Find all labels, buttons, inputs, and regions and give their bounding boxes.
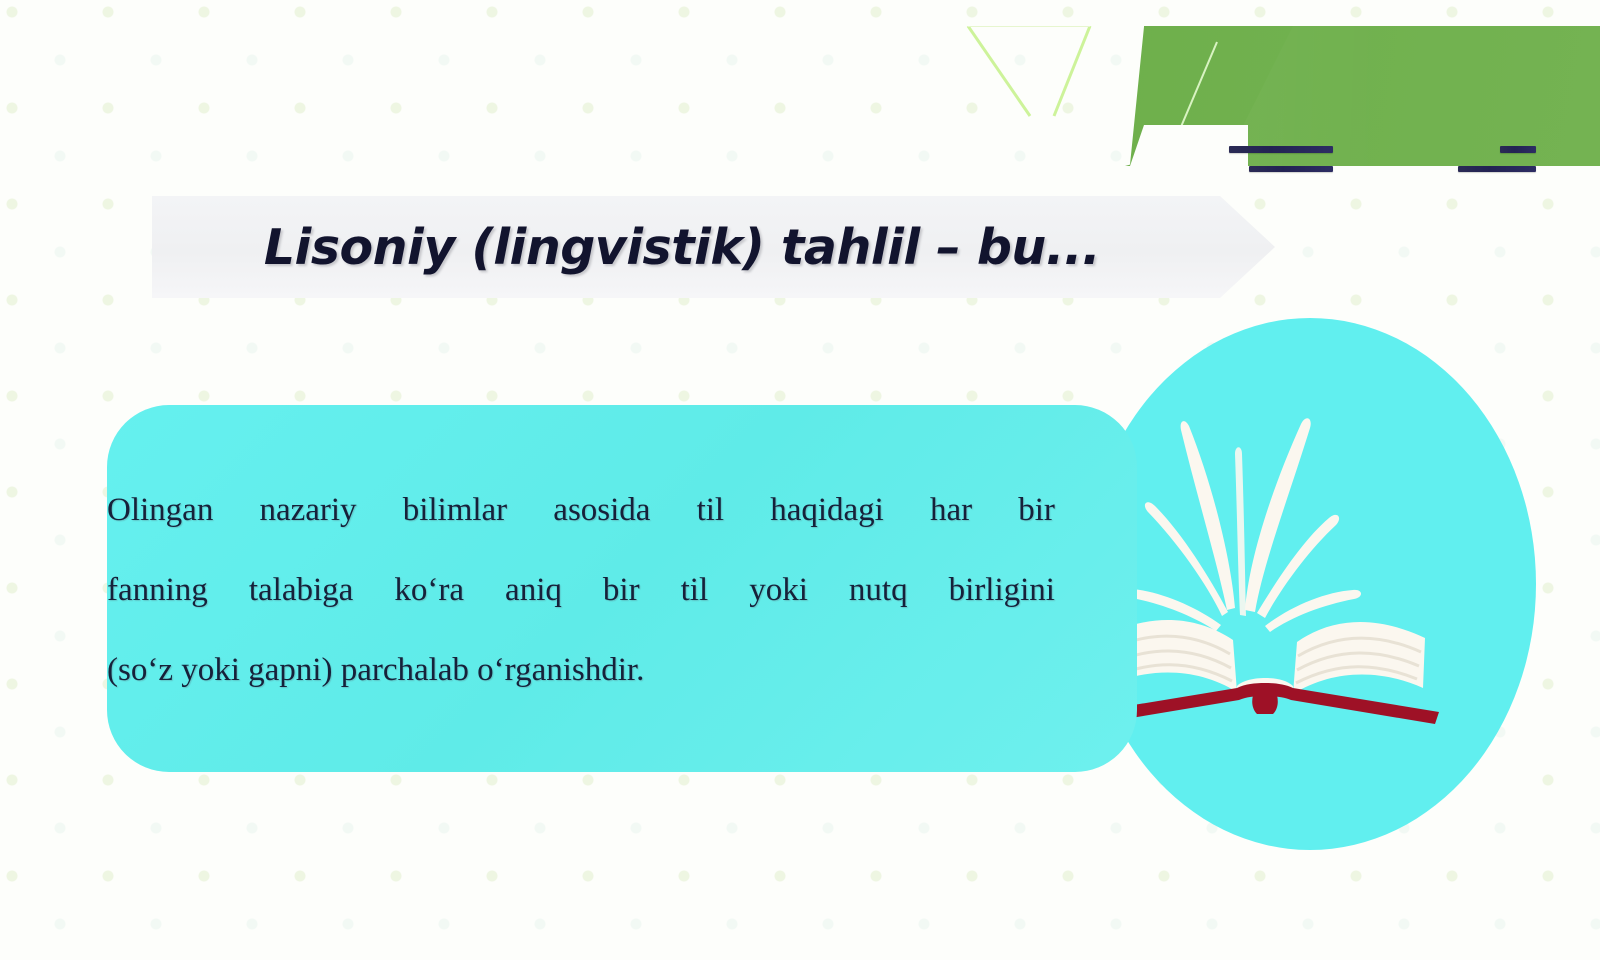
- slide-canvas: Lisoniy (lingvistik) tahlil – bu...: [0, 0, 1600, 960]
- navy-bar-2: [1249, 166, 1333, 172]
- word: bir: [1018, 470, 1055, 550]
- word: haqidagi: [770, 470, 884, 550]
- word: til: [681, 550, 709, 630]
- word: ko‘ra: [394, 550, 464, 630]
- word: Olingan: [107, 470, 213, 550]
- body-paragraph: Olingan nazariy bilimlar asosida til haq…: [107, 470, 1055, 710]
- word: birligini: [949, 550, 1055, 630]
- word: bilimlar: [403, 470, 507, 550]
- word: aniq: [505, 550, 562, 630]
- body-line-2: fanning talabiga ko‘ra aniq bir til yoki…: [107, 550, 1055, 630]
- navy-bar-1: [1229, 146, 1333, 153]
- word: nutq: [849, 550, 908, 630]
- body-line-3: (so‘z yoki gapni) parchalab o‘rganishdir…: [107, 630, 1055, 710]
- header-band-fill: [8, 26, 1600, 166]
- word: har: [930, 470, 972, 550]
- word: talabiga: [249, 550, 353, 630]
- word: asosida: [553, 470, 650, 550]
- navy-bar-3: [1500, 146, 1536, 153]
- word: fanning: [107, 550, 208, 630]
- navy-bar-4: [1458, 166, 1536, 172]
- word: yoki: [749, 550, 808, 630]
- word: bir: [603, 550, 640, 630]
- page-title: Lisoniy (lingvistik) tahlil – bu...: [152, 196, 1212, 298]
- turquoise-circle-backdrop: [1084, 318, 1536, 850]
- word: nazariy: [259, 470, 356, 550]
- green-header-band: [8, 26, 1600, 166]
- body-line-1: Olingan nazariy bilimlar asosida til haq…: [107, 470, 1055, 550]
- word: til: [697, 470, 725, 550]
